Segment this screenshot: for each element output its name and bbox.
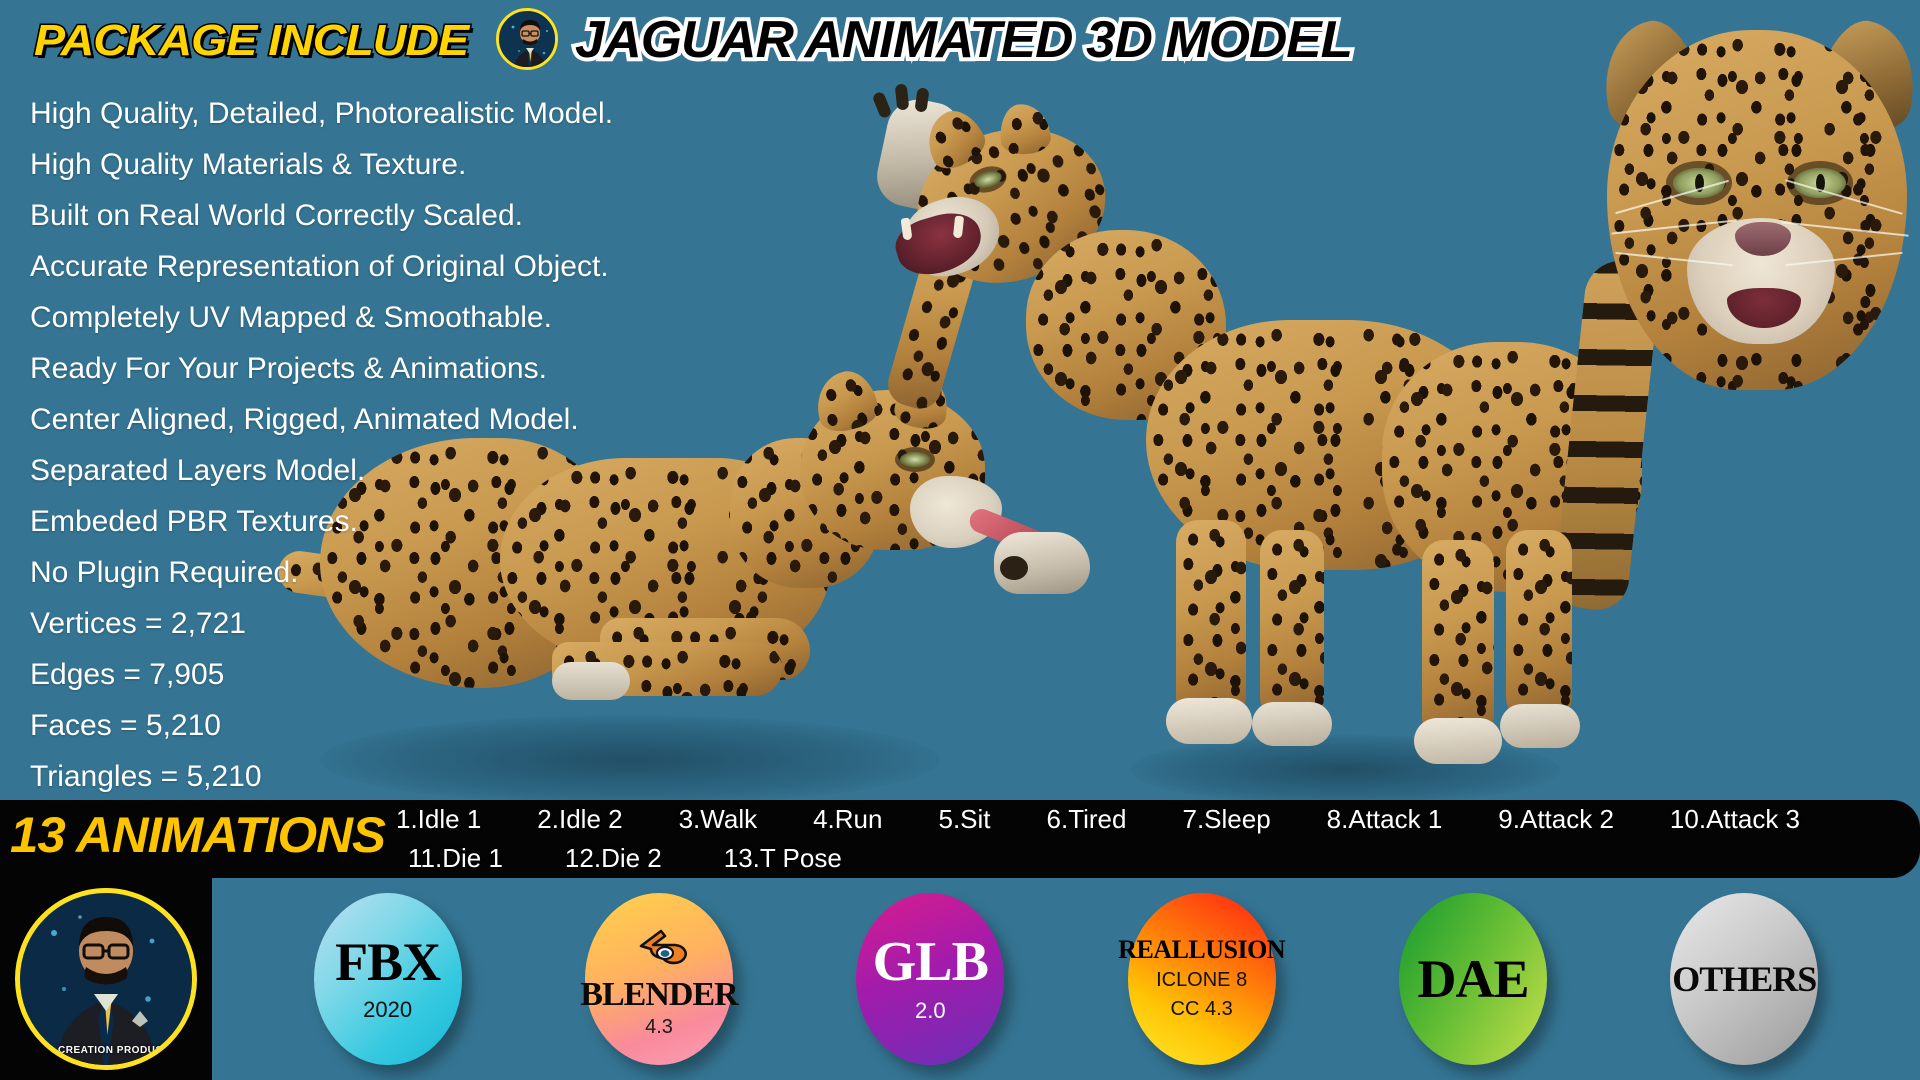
jaguar-head [1607,30,1907,390]
animation-item: 9.Attack 2 [1498,804,1614,835]
feature-item: Completely UV Mapped & Smoothable. [30,292,790,343]
feature-item: High Quality Materials & Texture. [30,139,790,190]
page-title: JAGUAR ANIMATED 3D MODEL [575,10,1352,70]
jaguar-nose [1735,222,1791,256]
feature-item: Separated Layers Model. [30,445,790,496]
feature-item: No Plugin Required. [30,547,790,598]
brand-logo-badge: BILAL CREATION PRODUCTION [0,878,212,1080]
format-badge-label: REALLUSION [1118,937,1285,963]
feature-item: Embeded PBR Textures. [30,496,790,547]
animations-row-2: 11.Die 1 12.Die 2 13.T Pose [396,839,1910,878]
feature-list: High Quality, Detailed, Photorealistic M… [30,88,790,802]
animations-list: 1.Idle 1 2.Idle 2 3.Walk 4.Run 5.Sit 6.T… [396,800,1910,878]
stat-triangles: Triangles = 5,210 [30,751,790,802]
header-bar: PACKAGE INCLUDE JAGUAR ANIMATED 3D MODEL [0,0,1920,78]
animation-item: 5.Sit [938,804,990,835]
stat-vertices: Vertices = 2,721 [30,598,790,649]
feature-item: Built on Real World Correctly Scaled. [30,190,790,241]
jaguar-eye-left [1673,168,1725,198]
jaguar-eye-right [1794,168,1846,198]
jaguar-muzzle [1687,218,1835,344]
format-badge-others[interactable]: OTHERS [1670,893,1818,1065]
animation-item: 8.Attack 1 [1327,804,1443,835]
animations-title: 13 ANIMATIONS [10,806,385,864]
format-badge-version: 2020 [363,997,412,1023]
stat-faces: Faces = 5,210 [30,700,790,751]
stat-edges: Edges = 7,905 [30,649,790,700]
format-badge-sub: ICLONE 8 [1156,969,1247,992]
format-badge-label: BLENDER [580,978,737,1012]
animation-item: 2.Idle 2 [537,804,622,835]
jaguar-rearing-pose [930,90,1650,770]
animation-item: 12.Die 2 [565,843,662,874]
animations-bar: 13 ANIMATIONS 1.Idle 1 2.Idle 2 3.Walk 4… [0,800,1920,878]
format-badge-label: OTHERS [1672,961,1816,997]
format-badge-glb[interactable]: GLB 2.0 [856,893,1004,1065]
formats-bar: BILAL CREATION PRODUCTION FBX 2020 BLEND… [0,878,1920,1080]
animation-item: 10.Attack 3 [1670,804,1800,835]
animation-item: 6.Tired [1047,804,1127,835]
animation-item: 4.Run [813,804,882,835]
format-badges: FBX 2020 BLENDER 4.3 GLB 2.0 REALLUSION … [212,878,1920,1080]
animation-item: 13.T Pose [724,843,842,874]
format-badge-dae[interactable]: DAE [1399,893,1547,1065]
feature-item: Accurate Representation of Original Obje… [30,241,790,292]
animations-row-1: 1.Idle 1 2.Idle 2 3.Walk 4.Run 5.Sit 6.T… [396,800,1910,839]
feature-item: High Quality, Detailed, Photorealistic M… [30,88,790,139]
format-badge-sub2: CC 4.3 [1171,998,1233,1021]
format-badge-label: FBX [335,935,440,989]
format-badge-fbx[interactable]: FBX 2020 [314,893,462,1065]
brand-logo-text: BILAL CREATION PRODUCTION [20,1045,192,1056]
format-badge-reallusion[interactable]: REALLUSION ICLONE 8 CC 4.3 [1128,893,1276,1065]
format-badge-version: 2.0 [915,998,946,1024]
format-badge-blender[interactable]: BLENDER 4.3 [585,893,733,1065]
format-badge-version: 4.3 [645,1016,673,1039]
animation-item: 3.Walk [679,804,758,835]
format-badge-label: GLB [873,934,988,990]
jaguar-mouth [1727,288,1801,328]
brand-avatar-icon [496,8,558,70]
feature-item: Ready For Your Projects & Animations. [30,343,790,394]
animation-item: 7.Sleep [1182,804,1270,835]
blender-logo-icon [631,920,687,976]
animation-item: 11.Die 1 [408,843,503,874]
format-badge-label: DAE [1417,952,1528,1006]
brand-avatar-icon: BILAL CREATION PRODUCTION [15,888,197,1070]
animation-item: 1.Idle 1 [396,804,481,835]
package-include-heading: PACKAGE INCLUDE [34,16,468,66]
ground-shadow [1130,735,1560,805]
feature-item: Center Aligned, Rigged, Animated Model. [30,394,790,445]
